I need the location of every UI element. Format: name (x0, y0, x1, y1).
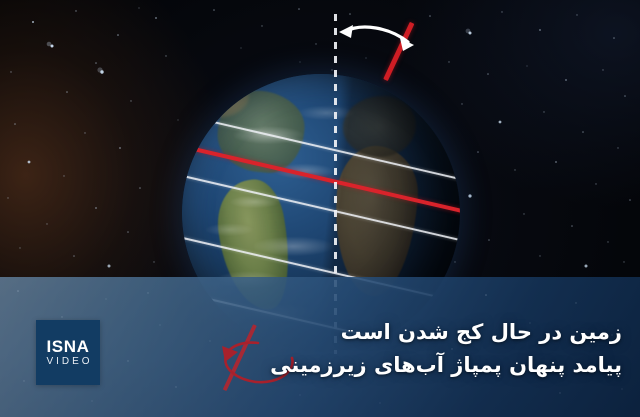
headline-line-2: پیامد پنهان پمپاژ آب‌های زیرزمینی (192, 349, 622, 382)
headline-block: زمین در حال کج شدن است پیامد پنهان پمپاژ… (192, 316, 622, 382)
headline-line-1: زمین در حال کج شدن است (192, 316, 622, 349)
logo-sub-label: VIDEO (43, 357, 92, 367)
isna-video-logo[interactable]: ISNA VIDEO (36, 320, 100, 385)
video-thumbnail-stage: ISNA VIDEO زمین در حال کج شدن است پیامد … (0, 0, 640, 417)
logo-brand-name: ISNA (46, 338, 89, 355)
